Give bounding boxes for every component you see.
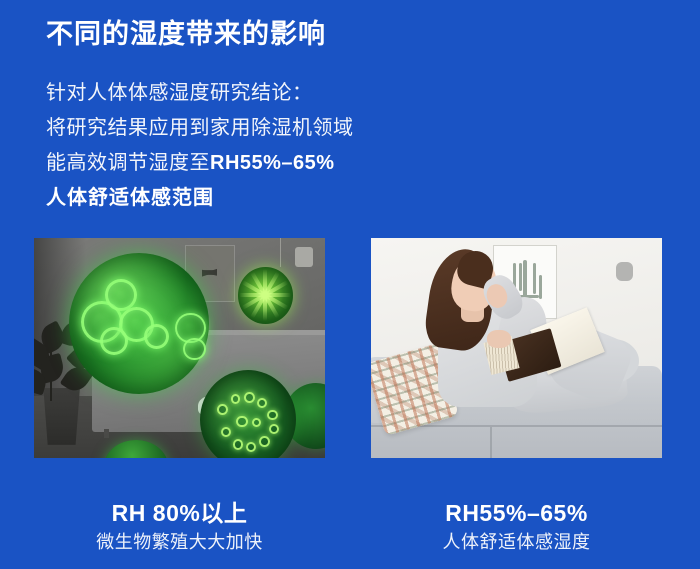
wall-lamp (295, 247, 313, 267)
slide-root: 不同的湿度带来的影响 针对人体体感湿度研究结论： 将研究结果应用到家用除湿机领域… (0, 0, 700, 569)
photo-panel-comfort-humidity (371, 238, 662, 458)
caption-high-humidity: RH 80%以上 微生物繁殖大大加快 (34, 498, 325, 556)
person-hand (487, 330, 510, 348)
sofa-seam (490, 427, 492, 458)
germ-orb-large-bottom (200, 370, 296, 458)
sofa-leg (104, 429, 109, 438)
pendant-cord (280, 238, 281, 267)
germ-cell-dots (200, 370, 296, 458)
body-line-2: 将研究结果应用到家用除湿机领域 (46, 111, 354, 146)
caption-comfort-humidity: RH55%–65% 人体舒适体感湿度 (371, 498, 662, 556)
germ-cell (100, 327, 128, 355)
germ-orb-large (69, 253, 209, 394)
body-line-3: 能高效调节湿度至RH55%–65% (46, 146, 354, 181)
photo-panel-high-humidity (34, 238, 325, 458)
bright-room-scene (371, 238, 662, 458)
wall-knob (616, 262, 633, 281)
germ-cell (183, 338, 205, 361)
germ-cell (105, 279, 137, 311)
humidity-range-emphasis: RH55%–65% (210, 152, 335, 174)
cactus-arm (533, 263, 536, 294)
germ-orb-spiky (238, 267, 293, 324)
body-line-4: 人体舒适体感范围 (46, 181, 354, 216)
cactus-arm (539, 275, 542, 300)
caption-sub-left: 微生物繁殖大大加快 (34, 528, 325, 556)
germ-cell (144, 324, 169, 349)
cactus-arm (519, 263, 522, 291)
dark-room-scene (34, 238, 325, 458)
caption-main-left: RH 80%以上 (34, 498, 325, 528)
body-copy: 针对人体体感湿度研究结论： 将研究结果应用到家用除湿机领域 能高效调节湿度至RH… (46, 76, 354, 216)
body-line-1: 针对人体体感湿度研究结论： (46, 76, 354, 111)
caption-sub-right: 人体舒适体感湿度 (371, 528, 662, 556)
page-title: 不同的湿度带来的影响 (46, 18, 326, 50)
caption-main-right: RH55%–65% (371, 498, 662, 528)
body-line-3-prefix: 能高效调节湿度至 (46, 152, 210, 174)
plant-stem (50, 346, 52, 401)
